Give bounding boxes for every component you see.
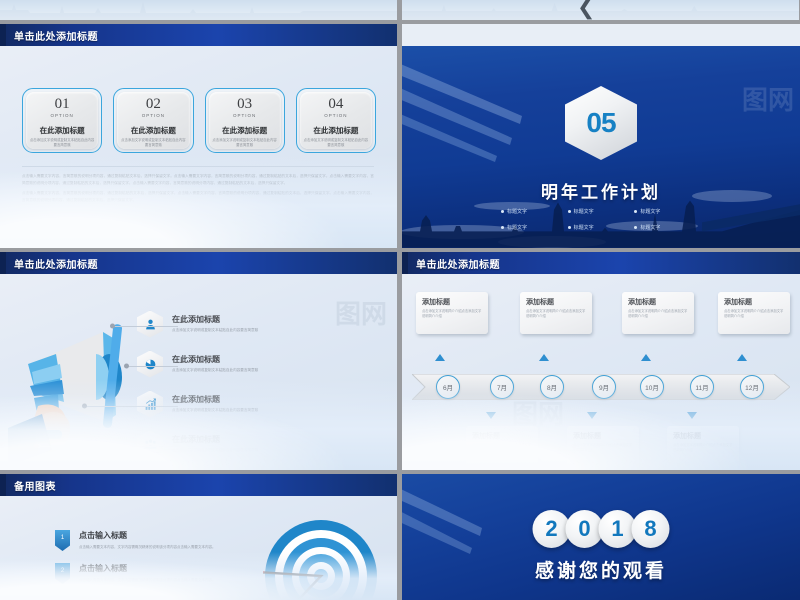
option-card-label: OPTION [233, 113, 256, 118]
section-bullet-item: 标题文字 [634, 208, 701, 215]
timeline-card-bottom[interactable]: 添加标题 点击添加文字说明简介介绍点击添加文字说明简介介绍 [466, 426, 538, 468]
bar-chart-growth-icon [137, 391, 163, 418]
previous-row-strip: ❮ [0, 0, 800, 20]
timeline-month-list: 6月 7月 8月 9月 10月 11月 12月 [412, 374, 790, 400]
slide-options-titlebar: 单击此处添加标题 [0, 24, 397, 46]
timeline-card-title: 添加标题 [573, 431, 633, 441]
option-card-title: 在此添加标题 [222, 125, 267, 136]
timeline-card-sub: 点击添加文字说明简介介绍点击添加文字说明简介介绍 [628, 309, 688, 320]
option-card[interactable]: 03 OPTION 在此添加标题 点击添加文字说明或复制文本粘贴自此内容要言简意… [205, 88, 285, 153]
timeline-card-title: 添加标题 [673, 431, 733, 441]
pie-chart-icon-glyph [144, 358, 157, 371]
triangle-up-icon [539, 354, 549, 361]
timeline-card-top[interactable]: 添加标题 点击添加文字说明简介介绍点击添加文字说明简介介绍 [718, 292, 790, 334]
list-item-sub: 点击添加文字说明或复制文本粘贴自此内容要言简意赅 [172, 447, 258, 453]
list-item-title: 在此添加标题 [172, 394, 258, 405]
megaphone-info-list: 在此添加标题 点击添加文字说明或复制文本粘贴自此内容要言简意赅 在此添加标题 点… [137, 304, 389, 464]
leader-line [126, 366, 178, 367]
timeline-month[interactable]: 8月 [540, 375, 564, 399]
option-card-title: 在此添加标题 [131, 125, 176, 136]
timeline-card-title: 添加标题 [422, 297, 482, 307]
leader-node [82, 404, 87, 409]
year-digit: 1 [611, 516, 623, 542]
slide-megaphone-title: 单击此处添加标题 [14, 256, 98, 271]
list-item-title: 点击输入标题 [79, 563, 239, 574]
bullet-dot-icon [501, 226, 504, 229]
list-item[interactable]: 2 点击输入标题 点击输入需要文本内容，文字内容需概况精炼的说明该分项内容点击输… [55, 563, 270, 584]
option-card[interactable]: 02 OPTION 在此添加标题 点击添加文字说明或复制文本粘贴自此内容要言简意… [113, 88, 193, 153]
bar-chart-growth-icon-glyph [144, 398, 157, 411]
option-card-number: 02 [146, 97, 161, 112]
bullet-dot-icon [568, 210, 571, 213]
option-card-number: 04 [328, 97, 343, 112]
year-digit-ball: 8 [632, 510, 670, 548]
timeline-month[interactable]: 10月 [640, 375, 664, 399]
slide-options[interactable]: 单击此处添加标题 01 OPTION 在此添加标题 点击添加文字说明或复制文本粘… [0, 24, 397, 248]
options-paragraph-block: 点击输入需要文字内容，言简意赅的说明分项内容，通过复制粘贴文本后，选择只保留文字… [22, 166, 374, 203]
list-item-sub: 点击添加文字说明或复制文本粘贴自此内容要言简意赅 [172, 367, 258, 373]
leader-line [36, 446, 178, 447]
leader-node [110, 324, 115, 329]
team-icon [137, 431, 163, 458]
triangle-down-icon [687, 412, 697, 419]
leader-node [124, 364, 129, 369]
options-paragraph-1: 点击输入需要文字内容，言简意赅的说明分项内容，通过复制粘贴文本后，选择只保留文字… [22, 173, 374, 187]
list-item-sub: 点击输入需要文本内容，文字内容需概况精炼的说明该分项内容点击输入需要文本内容。 [79, 544, 239, 550]
timeline-card-title: 添加标题 [628, 297, 688, 307]
timeline-card-sub: 点击添加文字说明简介介绍点击添加文字说明简介介绍 [724, 309, 784, 320]
timeline-card-title: 添加标题 [724, 297, 784, 307]
option-card-sub: 点击添加文字说明或复制文本粘贴自此内容要言简意赅 [303, 138, 369, 148]
leader-node [34, 444, 39, 449]
slide-megaphone-body: 在此添加标题 点击添加文字说明或复制文本粘贴自此内容要言简意赅 在此添加标题 点… [0, 274, 397, 470]
year-digit: 0 [578, 516, 590, 542]
timeline-card-bottom[interactable]: 添加标题 点击添加文字说明简介介绍点击添加文字说明简介介绍 [567, 426, 639, 468]
timeline-card-top[interactable]: 添加标题 点击添加文字说明简介介绍点击添加文字说明简介介绍 [416, 292, 488, 334]
leader-line [112, 326, 178, 327]
bullet-dot-icon [501, 210, 504, 213]
options-paragraph-2: 点击输入需要文字内容，言简意赅的说明分项内容，通过复制粘贴的文本后，选择只保留文… [22, 190, 374, 204]
option-card-title: 在此添加标题 [313, 125, 358, 136]
thanks-message: 感谢您的观看 [402, 556, 800, 583]
option-card-label: OPTION [50, 113, 73, 118]
list-item-title: 在此添加标题 [172, 314, 258, 325]
timeline-card-sub: 点击添加文字说明简介介绍点击添加文字说明简介介绍 [573, 443, 633, 454]
slide-megaphone-titlebar: 单击此处添加标题 [0, 252, 397, 274]
year-digit: 8 [644, 516, 656, 542]
slide-grid-canvas: ❮ 单击此处添加标题 01 OPTION 在此添加标题 点击添加文字说明或复制文… [0, 0, 800, 600]
skyline-silhouette-icon [0, 2, 397, 20]
list-item-sub: 点击添加文字说明或复制文本粘贴自此内容要言简意赅 [172, 327, 258, 333]
list-item-title: 点击输入标题 [79, 596, 239, 600]
option-card[interactable]: 04 OPTION 在此添加标题 点击添加文字说明或复制文本粘贴自此内容要言简意… [296, 88, 376, 153]
option-card-list: 01 OPTION 在此添加标题 点击添加文字说明或复制文本粘贴自此内容要言简意… [22, 88, 376, 153]
option-card-label: OPTION [324, 113, 347, 118]
skyline-photo-icon [0, 428, 397, 470]
timeline-card-sub: 点击添加文字说明简介介绍点击添加文字说明简介介绍 [472, 443, 532, 454]
strip-panel-left [0, 0, 397, 20]
watermark: 图网 [512, 394, 564, 431]
option-card-number: 01 [55, 97, 70, 112]
timeline-month[interactable]: 6月 [436, 375, 460, 399]
section-bullet-label: 标题文字 [574, 224, 594, 231]
list-item[interactable]: 在此添加标题 点击添加文字说明或复制文本粘贴自此内容要言简意赅 [137, 304, 389, 344]
slide-timeline-title: 单击此处添加标题 [416, 256, 500, 271]
timeline-card-sub: 点击添加文字说明简介介绍点击添加文字说明简介介绍 [422, 309, 482, 320]
timeline-card-top[interactable]: 添加标题 点击添加文字说明简介介绍点击添加文字说明简介介绍 [520, 292, 592, 334]
bullet-dot-icon [634, 226, 637, 229]
section-bullet-item: 标题文字 [634, 224, 701, 231]
section-bullet-label: 标题文字 [507, 208, 527, 215]
list-item[interactable]: 1 点击输入标题 点击输入需要文本内容，文字内容需概况精炼的说明该分项内容点击输… [55, 530, 270, 551]
timeline-month[interactable]: 9月 [592, 375, 616, 399]
timeline-card-bottom[interactable]: 添加标题 点击添加文字说明简介介绍点击添加文字说明简介介绍 [667, 426, 739, 468]
megaphone-illustration-icon [8, 310, 148, 470]
slide-thanks-body: 2 0 1 8 感谢您的观看 [402, 474, 800, 600]
option-card-title: 在此添加标题 [40, 125, 85, 136]
option-card[interactable]: 01 OPTION 在此添加标题 点击添加文字说明或复制文本粘贴自此内容要言简意… [22, 88, 102, 153]
list-item-title: 在此添加标题 [172, 434, 258, 445]
slide-thanks[interactable]: 2 0 1 8 感谢您的观看 [402, 474, 800, 600]
pie-chart-icon [137, 351, 163, 378]
timeline-card-sub: 点击添加文字说明简介介绍点击添加文字说明简介介绍 [673, 443, 733, 454]
slide-options-title: 单击此处添加标题 [14, 28, 98, 43]
timeline-card-title: 添加标题 [472, 431, 532, 441]
slide-backup-title: 备用图表 [14, 478, 56, 493]
list-item-sub: 点击输入需要文本内容，文字内容需概况精炼的说明该分项内容点击输入需要文本内容。 [79, 577, 239, 583]
section-title: 明年工作计划 [402, 178, 800, 203]
ribbon-number-icon: 3 [55, 596, 70, 600]
list-item-title: 在此添加标题 [172, 354, 258, 365]
section-bullet-item: 标题文字 [501, 208, 568, 215]
section-bullet-label: 标题文字 [640, 208, 660, 215]
timeline-card-top[interactable]: 添加标题 点击添加文字说明简介介绍点击添加文字说明简介介绍 [622, 292, 694, 334]
slide-section-body: 05 明年工作计划 标题文字 标题文字 标题文字 标题文字 标题文字 标题文字 … [402, 46, 800, 248]
section-bullet-item: 标题文字 [501, 224, 568, 231]
ribbon-number-icon: 2 [55, 563, 70, 584]
year-digit: 2 [545, 516, 557, 542]
list-item-sub: 点击添加文字说明或复制文本粘贴自此内容要言简意赅 [172, 407, 258, 413]
list-item[interactable]: 在此添加标题 点击添加文字说明或复制文本粘贴自此内容要言简意赅 [137, 424, 389, 464]
slide-timeline-body: 6月 7月 8月 9月 10月 11月 12月 添加标题 点击添加文字说明简介介… [402, 274, 800, 470]
skyline-photo-icon [0, 206, 397, 248]
option-card-label: OPTION [142, 113, 165, 118]
section-bullet-list: 标题文字 标题文字 标题文字 标题文字 标题文字 标题文字 [501, 208, 701, 240]
triangle-down-icon [587, 412, 597, 419]
ribbon-number-icon: 1 [55, 530, 70, 551]
skyline-photo-icon [402, 428, 800, 470]
triangle-up-icon [435, 354, 445, 361]
timeline-month[interactable]: 11月 [690, 375, 714, 399]
timeline-card-title: 添加标题 [526, 297, 586, 307]
triangle-down-icon [486, 412, 496, 419]
timeline-card-sub: 点击添加文字说明简介介绍点击添加文字说明简介介绍 [526, 309, 586, 320]
list-item[interactable]: 在此添加标题 点击添加文字说明或复制文本粘贴自此内容要言简意赅 [137, 384, 389, 424]
triangle-up-icon [641, 354, 651, 361]
timeline-month[interactable]: 7月 [490, 375, 514, 399]
list-item-title: 点击输入标题 [79, 530, 239, 541]
option-card-sub: 点击添加文字说明或复制文本粘贴自此内容要言简意赅 [120, 138, 186, 148]
slide-megaphone[interactable]: 单击此处添加标题 [0, 252, 397, 470]
user-icon [137, 311, 163, 338]
slide-backup-titlebar: 备用图表 [0, 474, 397, 496]
bullet-dot-icon [568, 226, 571, 229]
titlebar-accent-stripe [0, 252, 6, 274]
list-item[interactable]: 在此添加标题 点击添加文字说明或复制文本粘贴自此内容要言简意赅 [137, 344, 389, 384]
timeline-month[interactable]: 12月 [740, 375, 764, 399]
user-icon-glyph [144, 318, 157, 331]
team-icon-glyph [144, 438, 157, 451]
slide-backup-chart[interactable]: 备用图表 1 点击输入标题 点击输入需要文本内容，文字内容需概况精炼的说明该分项… [0, 474, 397, 600]
section-bullet-label: 标题文字 [574, 208, 594, 215]
slide-options-body: 01 OPTION 在此添加标题 点击添加文字说明或复制文本粘贴自此内容要言简意… [0, 46, 397, 248]
option-card-number: 03 [237, 97, 252, 112]
slide-backup-body: 1 点击输入标题 点击输入需要文本内容，文字内容需概况精炼的说明该分项内容点击输… [0, 496, 397, 600]
section-number: 05 [586, 107, 615, 139]
option-card-sub: 点击添加文字说明或复制文本粘贴自此内容要言简意赅 [29, 138, 95, 148]
titlebar-accent-stripe [0, 474, 6, 496]
strip-panel-right: ❮ [402, 0, 799, 20]
triangle-up-icon [737, 354, 747, 361]
slide-section-divider[interactable]: 05 明年工作计划 标题文字 标题文字 标题文字 标题文字 标题文字 标题文字 … [402, 24, 800, 248]
bullet-dot-icon [634, 210, 637, 213]
titlebar-accent-stripe [0, 24, 6, 46]
section-bullet-label: 标题文字 [640, 224, 660, 231]
leader-line [84, 406, 178, 407]
option-card-sub: 点击添加文字说明或复制文本粘贴自此内容要言简意赅 [212, 138, 278, 148]
slide-timeline-titlebar: 单击此处添加标题 [402, 252, 800, 274]
backup-numbered-list: 1 点击输入标题 点击输入需要文本内容，文字内容需概况精炼的说明该分项内容点击输… [55, 530, 270, 600]
year-ball-group: 2 0 1 8 [533, 510, 670, 548]
section-number-hexagon: 05 [565, 86, 637, 160]
section-bullet-item: 标题文字 [568, 208, 635, 215]
section-bullet-item: 标题文字 [568, 224, 635, 231]
section-bullet-label: 标题文字 [507, 224, 527, 231]
titlebar-accent-stripe [402, 252, 408, 274]
chevron-left-mark-icon: ❮ [577, 0, 603, 20]
slide-timeline[interactable]: 单击此处添加标题 6月 7月 8月 9月 10月 11月 [402, 252, 800, 470]
list-item[interactable]: 3 点击输入标题 点击输入需要文本内容，文字内容需概况精炼的说明该分项内容点击输… [55, 596, 270, 600]
target-dartboard-icon [263, 518, 379, 600]
